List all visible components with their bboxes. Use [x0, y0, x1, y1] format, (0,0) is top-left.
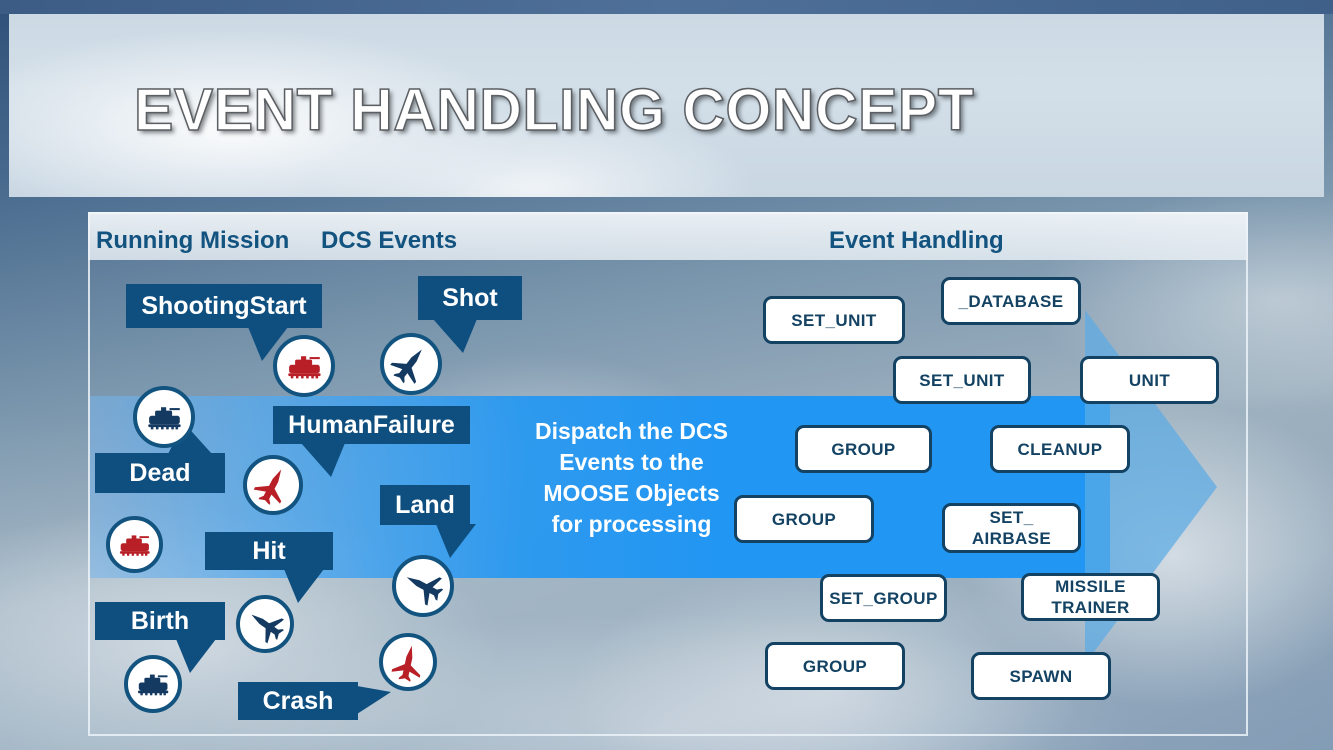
event-callout-label: Hit: [252, 537, 285, 566]
event-callout-shootingstart[interactable]: ShootingStart: [126, 284, 322, 328]
event-callout-crash[interactable]: Crash: [238, 682, 358, 720]
unit-badge-jet-red2-icon[interactable]: [379, 633, 437, 691]
event-callout-label: Shot: [442, 284, 498, 313]
event-callout-label: Dead: [129, 459, 190, 488]
unit-badge-jet-navy3-icon[interactable]: [236, 595, 294, 653]
event-callout-label: HumanFailure: [288, 411, 455, 440]
unit-badge-tank-red2-icon[interactable]: [106, 516, 163, 573]
moose-object-unit[interactable]: UNIT: [1080, 356, 1219, 404]
moose-object-set--airbase[interactable]: SET_ AIRBASE: [942, 503, 1081, 553]
dispatch-arrow-label: Dispatch the DCS Events to the MOOSE Obj…: [527, 416, 736, 540]
event-callout-land[interactable]: Land: [380, 485, 470, 525]
moose-object-group[interactable]: GROUP: [795, 425, 932, 473]
event-callout-label: Crash: [263, 687, 334, 716]
moose-object-group[interactable]: GROUP: [765, 642, 905, 690]
event-callout-label: Birth: [131, 607, 189, 636]
callout-tail: [357, 686, 391, 714]
slide-canvas: EVENT HANDLING CONCEPT Running Mission D…: [0, 0, 1333, 750]
event-callout-hit[interactable]: Hit: [205, 532, 333, 570]
callout-tail: [176, 639, 216, 673]
event-callout-label: ShootingStart: [141, 292, 306, 321]
page-title: EVENT HANDLING CONCEPT: [134, 76, 974, 144]
unit-badge-tank-navy-icon[interactable]: [133, 386, 195, 448]
event-callout-birth[interactable]: Birth: [95, 602, 225, 640]
moose-object-group[interactable]: GROUP: [734, 495, 874, 543]
unit-badge-jet-navy-icon[interactable]: [380, 333, 442, 395]
callout-tail: [436, 524, 476, 558]
moose-object-set-unit[interactable]: SET_UNIT: [893, 356, 1031, 404]
top-accent-bar: [0, 0, 1333, 14]
moose-object-spawn[interactable]: SPAWN: [971, 652, 1111, 700]
moose-object-set-group[interactable]: SET_GROUP: [820, 574, 947, 622]
callout-tail: [284, 569, 324, 603]
event-callout-shot[interactable]: Shot: [418, 276, 522, 320]
callout-tail: [433, 319, 477, 353]
column-header-event-handling: Event Handling: [829, 227, 1004, 255]
column-header-dcs-events: DCS Events: [321, 227, 457, 255]
unit-badge-tank-red-icon[interactable]: [273, 335, 335, 397]
moose-object--database[interactable]: _DATABASE: [941, 277, 1081, 325]
column-header-running-mission: Running Mission: [96, 227, 289, 255]
moose-object-set-unit[interactable]: SET_UNIT: [763, 296, 905, 344]
moose-object-cleanup[interactable]: CLEANUP: [990, 425, 1130, 473]
moose-object-missile-trainer[interactable]: MISSILE TRAINER: [1021, 573, 1160, 621]
event-callout-label: Land: [395, 491, 455, 520]
unit-badge-tank-navy2-icon[interactable]: [124, 655, 182, 713]
event-callout-humanfailure[interactable]: HumanFailure: [273, 406, 470, 444]
event-callout-dead[interactable]: Dead: [95, 453, 225, 493]
callout-tail: [301, 443, 345, 477]
unit-badge-jet-navy2-icon[interactable]: [392, 555, 454, 617]
unit-badge-jet-red-icon[interactable]: [243, 455, 303, 515]
